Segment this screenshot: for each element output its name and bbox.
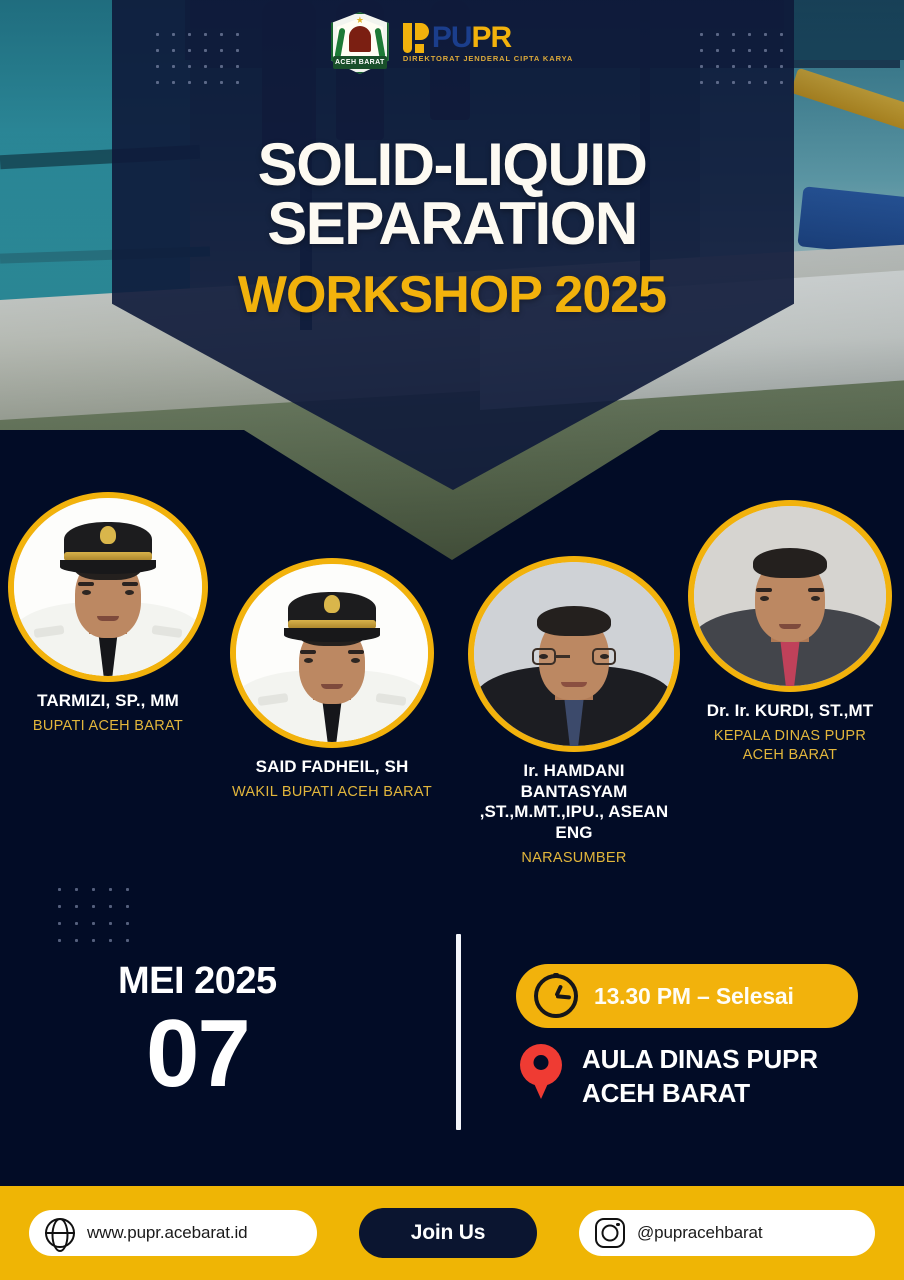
pupr-text-pu: PU xyxy=(432,23,472,53)
event-poster: ★ ACEH BARAT PU PR DIREKTORAT JENDERAL C… xyxy=(0,0,904,1280)
crest-ribbon-label: ACEH BARAT xyxy=(333,56,387,69)
dot-grid-bottom-left-icon xyxy=(58,888,129,942)
instagram-chip[interactable]: @pupracehbarat xyxy=(579,1210,875,1256)
aceh-barat-crest-icon: ★ ACEH BARAT xyxy=(331,12,389,74)
avatar-1 xyxy=(8,492,208,682)
speaker-card-4: Dr. Ir. KURDI, ST.,MT KEPALA DINAS PUPR … xyxy=(688,500,892,764)
poster-title: SOLID-LIQUID SEPARATION WORKSHOP 2025 xyxy=(0,136,904,322)
avatar-4 xyxy=(688,500,892,692)
event-time-text: 13.30 PM – Selesai xyxy=(594,983,794,1010)
speaker-4-role-line-2: ACEH BARAT xyxy=(743,747,838,763)
event-time-pill: 13.30 PM – Selesai xyxy=(516,964,858,1028)
event-location-text: AULA DINAS PUPR ACEH BARAT xyxy=(582,1042,818,1111)
pupr-mark-icon xyxy=(403,23,429,53)
speaker-3-name: Ir. HAMDANI BANTASYAM ,ST.,M.MT.,IPU., A… xyxy=(468,761,680,844)
website-label: www.pupr.acebarat.id xyxy=(87,1223,248,1243)
speaker-2-role: WAKIL BUPATI ACEH BARAT xyxy=(230,783,434,802)
speaker-card-1: TARMIZI, SP., MM BUPATI ACEH BARAT xyxy=(8,492,208,736)
event-location: AULA DINAS PUPR ACEH BARAT xyxy=(520,1042,818,1111)
pupr-tagline: DIREKTORAT JENDERAL CIPTA KARYA xyxy=(403,55,573,63)
speaker-1-name: TARMIZI, SP., MM xyxy=(8,691,208,712)
clock-icon xyxy=(534,974,578,1018)
event-day: 07 xyxy=(118,1008,277,1100)
event-location-line-1: AULA DINAS PUPR xyxy=(582,1044,818,1074)
speaker-3-name-line-2: ,ST.,M.MT.,IPU., ASEAN ENG xyxy=(480,802,669,842)
event-month-year: MEI 2025 xyxy=(118,962,277,1000)
globe-icon xyxy=(45,1218,75,1248)
footer-bar: www.pupr.acebarat.id Join Us @pupracehba… xyxy=(0,1186,904,1280)
pupr-text-pr: PR xyxy=(472,23,512,53)
speaker-card-3: Ir. HAMDANI BANTASYAM ,ST.,M.MT.,IPU., A… xyxy=(468,556,680,868)
avatar-3 xyxy=(468,556,680,752)
speaker-4-name: Dr. Ir. KURDI, ST.,MT xyxy=(688,701,892,722)
speaker-3-role: NARASUMBER xyxy=(468,849,680,868)
speaker-card-2: SAID FADHEIL, SH WAKIL BUPATI ACEH BARAT xyxy=(230,558,434,802)
speaker-3-name-line-1: Ir. HAMDANI BANTASYAM xyxy=(521,761,628,801)
dot-grid-top-right-icon xyxy=(700,33,783,84)
speaker-2-name: SAID FADHEIL, SH xyxy=(230,757,434,778)
dot-grid-top-left-icon xyxy=(156,33,239,84)
title-line-3: WORKSHOP 2025 xyxy=(0,268,904,323)
speaker-1-role: BUPATI ACEH BARAT xyxy=(8,717,208,736)
event-location-line-2: ACEH BARAT xyxy=(582,1078,750,1108)
event-date: MEI 2025 07 xyxy=(118,962,277,1100)
title-line-2: SEPARATION xyxy=(0,195,904,254)
instagram-icon xyxy=(595,1218,625,1248)
map-pin-icon xyxy=(520,1044,562,1100)
join-us-button[interactable]: Join Us xyxy=(359,1208,537,1258)
instagram-label: @pupracehbarat xyxy=(637,1223,763,1243)
pupr-logo: PU PR DIREKTORAT JENDERAL CIPTA KARYA xyxy=(403,23,573,63)
speaker-4-role-line-1: KEPALA DINAS PUPR xyxy=(714,728,866,744)
website-chip[interactable]: www.pupr.acebarat.id xyxy=(29,1210,317,1256)
vertical-divider xyxy=(456,934,461,1130)
avatar-2 xyxy=(230,558,434,748)
title-line-1: SOLID-LIQUID xyxy=(0,136,904,195)
speaker-4-role: KEPALA DINAS PUPR ACEH BARAT xyxy=(688,727,892,765)
